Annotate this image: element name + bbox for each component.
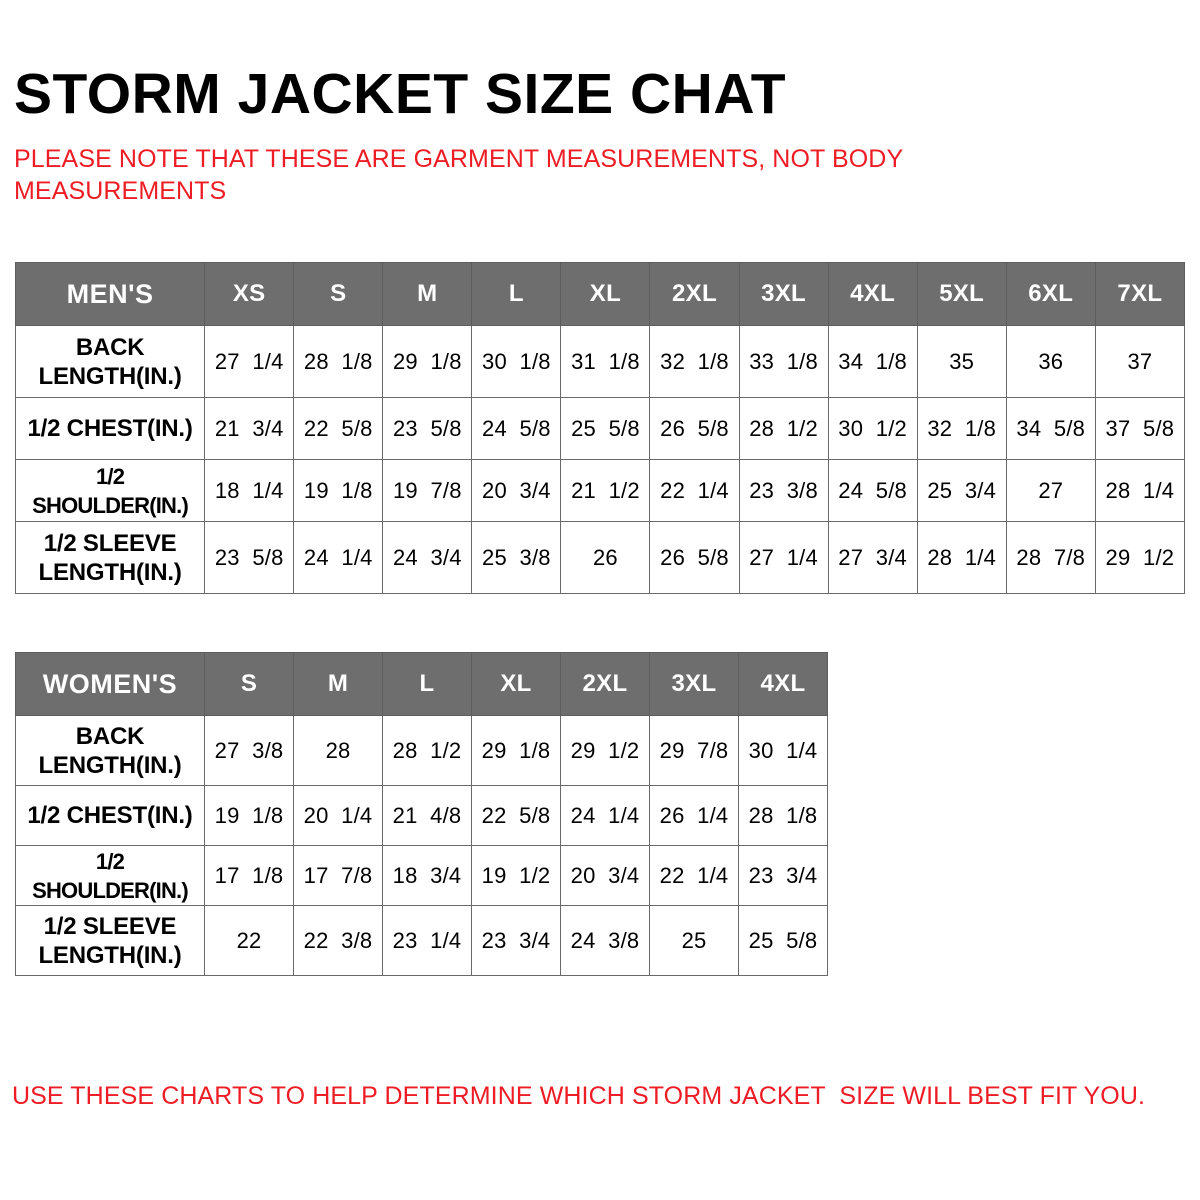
mens-table-head: MEN'SXSSMLXL2XL3XL4XL5XL6XL7XL (16, 263, 1185, 326)
measurement-cell: 22 1/4 (650, 460, 739, 522)
womens-row-label-3: 1/2 SLEEVE LENGTH(IN.) (16, 906, 205, 976)
measurement-cell: 24 1/4 (294, 522, 383, 594)
table-row: 1/2 CHEST(IN.)19 1/820 1/421 4/822 5/824… (16, 786, 828, 846)
measurement-cell: 34 1/8 (828, 326, 917, 398)
measurement-cell: 25 3/4 (917, 460, 1006, 522)
measurement-cell: 29 7/8 (650, 716, 739, 786)
measurement-cell: 21 4/8 (383, 786, 472, 846)
measurement-cell: 26 5/8 (650, 398, 739, 460)
measurement-cell: 25 5/8 (561, 398, 650, 460)
measurement-cell: 26 1/4 (650, 786, 739, 846)
measurement-cell: 23 3/4 (739, 846, 828, 906)
mens-size-table: MEN'SXSSMLXL2XL3XL4XL5XL6XL7XL BACK LENG… (15, 262, 1185, 594)
mens-size-header-m: M (383, 263, 472, 326)
measurement-cell: 28 1/8 (739, 786, 828, 846)
table-row: 1/2 SHOULDER(IN.)18 1/419 1/819 7/820 3/… (16, 460, 1185, 522)
womens-size-table: WOMEN'SSMLXL2XL3XL4XL BACK LENGTH(IN.)27… (15, 652, 828, 976)
mens-size-header-3xl: 3XL (739, 263, 828, 326)
measurement-cell: 24 5/8 (828, 460, 917, 522)
measurement-cell: 27 1/4 (205, 326, 294, 398)
measurement-cell: 34 5/8 (1006, 398, 1095, 460)
measurement-cell: 17 7/8 (294, 846, 383, 906)
measurement-cell: 25 3/8 (472, 522, 561, 594)
measurement-cell: 29 1/2 (561, 716, 650, 786)
measurement-cell: 30 1/2 (828, 398, 917, 460)
womens-header-label: WOMEN'S (16, 653, 205, 716)
measurement-cell: 28 1/2 (383, 716, 472, 786)
measurement-cell: 33 1/8 (739, 326, 828, 398)
measurement-cell: 18 1/4 (205, 460, 294, 522)
measurement-cell: 30 1/4 (739, 716, 828, 786)
measurement-cell: 18 3/4 (383, 846, 472, 906)
mens-size-header-4xl: 4XL (828, 263, 917, 326)
womens-table-head: WOMEN'SSMLXL2XL3XL4XL (16, 653, 828, 716)
measurement-cell: 28 1/4 (917, 522, 1006, 594)
mens-table-body: BACK LENGTH(IN.)27 1/428 1/829 1/830 1/8… (16, 326, 1185, 594)
womens-row-label-0: BACK LENGTH(IN.) (16, 716, 205, 786)
measurement-cell: 24 5/8 (472, 398, 561, 460)
measurement-cell: 36 (1006, 326, 1095, 398)
measurement-cell: 27 1/4 (739, 522, 828, 594)
usage-note: USE THESE CHARTS TO HELP DETERMINE WHICH… (12, 1081, 1192, 1111)
mens-row-label-0: BACK LENGTH(IN.) (16, 326, 205, 398)
mens-size-header-s: S (294, 263, 383, 326)
measurement-cell: 32 1/8 (650, 326, 739, 398)
garment-measurement-note: PLEASE NOTE THAT THESE ARE GARMENT MEASU… (14, 143, 1014, 207)
womens-size-header-2xl: 2XL (561, 653, 650, 716)
measurement-cell: 37 (1095, 326, 1184, 398)
measurement-cell: 25 5/8 (739, 906, 828, 976)
mens-size-header-xl: XL (561, 263, 650, 326)
measurement-cell: 22 5/8 (472, 786, 561, 846)
page-title: STORM JACKET SIZE CHAT (14, 62, 786, 126)
measurement-cell: 35 (917, 326, 1006, 398)
mens-header-label: MEN'S (16, 263, 205, 326)
womens-table-body: BACK LENGTH(IN.)27 3/82828 1/229 1/829 1… (16, 716, 828, 976)
womens-size-header-l: L (383, 653, 472, 716)
measurement-cell: 20 3/4 (472, 460, 561, 522)
measurement-cell: 28 1/4 (1095, 460, 1184, 522)
table-row: 1/2 SLEEVE LENGTH(IN.)23 5/824 1/424 3/4… (16, 522, 1185, 594)
measurement-cell: 23 3/8 (739, 460, 828, 522)
womens-size-header-s: S (205, 653, 294, 716)
mens-row-label-3: 1/2 SLEEVE LENGTH(IN.) (16, 522, 205, 594)
womens-size-header-4xl: 4XL (739, 653, 828, 716)
table-row: 1/2 SHOULDER(IN.)17 1/817 7/818 3/419 1/… (16, 846, 828, 906)
measurement-cell: 27 (1006, 460, 1095, 522)
measurement-cell: 29 1/8 (383, 326, 472, 398)
measurement-cell: 24 1/4 (561, 786, 650, 846)
measurement-cell: 19 1/2 (472, 846, 561, 906)
measurement-cell: 26 5/8 (650, 522, 739, 594)
table-row: BACK LENGTH(IN.)27 1/428 1/829 1/830 1/8… (16, 326, 1185, 398)
measurement-cell: 30 1/8 (472, 326, 561, 398)
mens-row-label-2: 1/2 SHOULDER(IN.) (16, 460, 205, 522)
measurement-cell: 28 1/2 (739, 398, 828, 460)
measurement-cell: 28 (294, 716, 383, 786)
womens-header-row: WOMEN'SSMLXL2XL3XL4XL (16, 653, 828, 716)
mens-header-row: MEN'SXSSMLXL2XL3XL4XL5XL6XL7XL (16, 263, 1185, 326)
measurement-cell: 23 5/8 (205, 522, 294, 594)
womens-row-label-2: 1/2 SHOULDER(IN.) (16, 846, 205, 906)
womens-size-header-3xl: 3XL (650, 653, 739, 716)
measurement-cell: 26 (561, 522, 650, 594)
measurement-cell: 23 1/4 (383, 906, 472, 976)
measurement-cell: 29 1/2 (1095, 522, 1184, 594)
mens-size-header-xs: XS (205, 263, 294, 326)
measurement-cell: 23 5/8 (383, 398, 472, 460)
measurement-cell: 27 3/4 (828, 522, 917, 594)
measurement-cell: 24 3/4 (383, 522, 472, 594)
measurement-cell: 22 3/8 (294, 906, 383, 976)
measurement-cell: 19 7/8 (383, 460, 472, 522)
size-chart-page: STORM JACKET SIZE CHAT PLEASE NOTE THAT … (0, 0, 1200, 1200)
mens-size-header-6xl: 6XL (1006, 263, 1095, 326)
mens-size-header-l: L (472, 263, 561, 326)
measurement-cell: 31 1/8 (561, 326, 650, 398)
mens-size-header-5xl: 5XL (917, 263, 1006, 326)
measurement-cell: 23 3/4 (472, 906, 561, 976)
measurement-cell: 24 3/8 (561, 906, 650, 976)
measurement-cell: 20 3/4 (561, 846, 650, 906)
mens-size-header-7xl: 7XL (1095, 263, 1184, 326)
table-row: BACK LENGTH(IN.)27 3/82828 1/229 1/829 1… (16, 716, 828, 786)
mens-size-header-2xl: 2XL (650, 263, 739, 326)
womens-size-header-m: M (294, 653, 383, 716)
measurement-cell: 28 7/8 (1006, 522, 1095, 594)
measurement-cell: 28 1/8 (294, 326, 383, 398)
measurement-cell: 37 5/8 (1095, 398, 1184, 460)
measurement-cell: 21 3/4 (205, 398, 294, 460)
measurement-cell: 29 1/8 (472, 716, 561, 786)
mens-row-label-1: 1/2 CHEST(IN.) (16, 398, 205, 460)
measurement-cell: 27 3/8 (205, 716, 294, 786)
womens-size-header-xl: XL (472, 653, 561, 716)
measurement-cell: 25 (650, 906, 739, 976)
measurement-cell: 19 1/8 (294, 460, 383, 522)
measurement-cell: 21 1/2 (561, 460, 650, 522)
measurement-cell: 22 (205, 906, 294, 976)
measurement-cell: 19 1/8 (205, 786, 294, 846)
womens-row-label-1: 1/2 CHEST(IN.) (16, 786, 205, 846)
measurement-cell: 17 1/8 (205, 846, 294, 906)
measurement-cell: 22 5/8 (294, 398, 383, 460)
table-row: 1/2 SLEEVE LENGTH(IN.)2222 3/823 1/423 3… (16, 906, 828, 976)
measurement-cell: 20 1/4 (294, 786, 383, 846)
measurement-cell: 32 1/8 (917, 398, 1006, 460)
measurement-cell: 22 1/4 (650, 846, 739, 906)
table-row: 1/2 CHEST(IN.)21 3/422 5/823 5/824 5/825… (16, 398, 1185, 460)
